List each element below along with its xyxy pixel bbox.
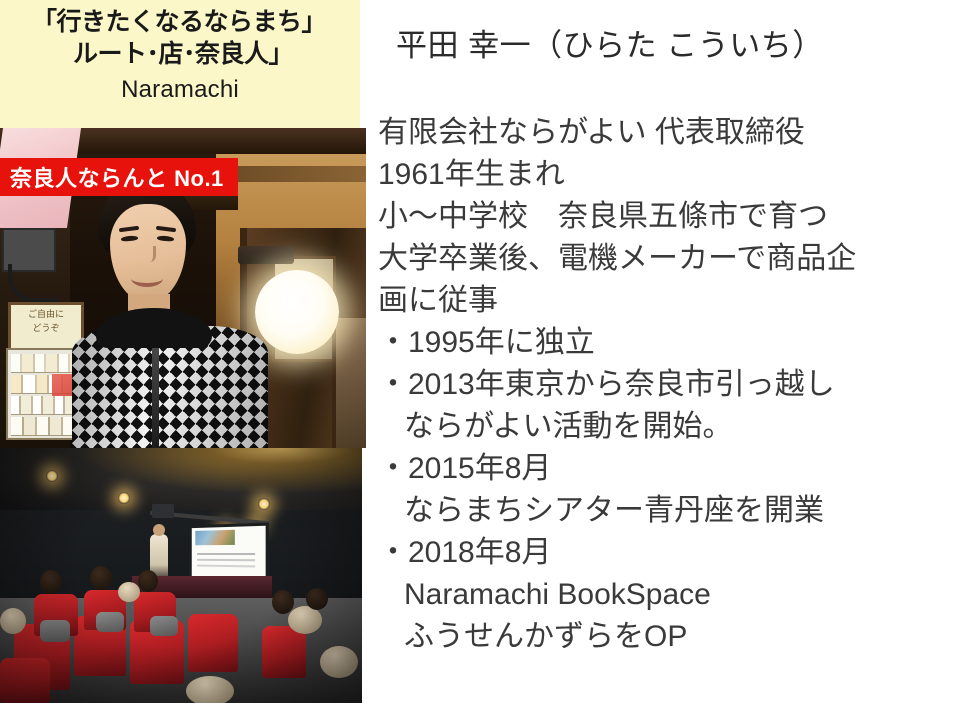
bio-line: ・1995年に独立 <box>378 322 960 364</box>
bio-line: ・2013年東京から奈良市引っ越し <box>378 364 960 406</box>
right-column: 平田 幸一（ひらた こういち） 有限会社ならがよい 代表取締役1961年生まれ小… <box>374 0 960 720</box>
bio-line: ・2018年8月 <box>378 532 960 574</box>
bio-line: ふうせんかずらをOP <box>378 616 960 658</box>
bio-line: ならがよい活動を開始。 <box>378 406 960 448</box>
storefront-air-unit <box>238 246 294 264</box>
photo-vignette <box>0 448 362 703</box>
bio-block: 有限会社ならがよい 代表取締役1961年生まれ小〜中学校 奈良県五條市で育つ大学… <box>378 112 960 658</box>
title-line-2: ルート･店･奈良人」 <box>73 38 293 70</box>
bio-line: 1961年生まれ <box>378 154 960 196</box>
brochure-row <box>11 354 81 373</box>
bio-line: 画に従事 <box>378 280 960 322</box>
title-card: 「行きたくなるならまち」 ルート･店･奈良人」 Naramachi <box>0 0 360 128</box>
paper-lantern <box>255 270 339 354</box>
bio-line: ならまちシアター青丹座を開業 <box>378 490 960 532</box>
bio-line: Naramachi BookSpace <box>378 574 960 616</box>
portrait-photo: ご自由にどうぞ 奈良人ならんと No.1 <box>0 128 366 448</box>
bio-line: 大学卒業後、電機メーカーで商品企 <box>378 238 960 280</box>
nara-badge-label: 奈良人ならんと No.1 <box>10 161 224 193</box>
person-nose <box>141 246 156 262</box>
bio-line: 小〜中学校 奈良県五條市で育つ <box>378 196 960 238</box>
brochure-row <box>11 396 81 415</box>
title-romaji: Naramachi <box>121 76 239 104</box>
bio-line: ・2015年8月 <box>378 448 960 490</box>
storefront-side-panel <box>332 318 366 448</box>
person-mouth <box>131 270 163 287</box>
free-to-take-sign: ご自由にどうぞ <box>8 302 84 352</box>
storefront-beam <box>220 166 366 182</box>
bio-line: 有限会社ならがよい 代表取締役 <box>378 112 960 154</box>
page-title: 平田 幸一（ひらた こういち） <box>396 20 824 65</box>
theater-photo <box>0 448 362 703</box>
brochure-row <box>11 417 81 436</box>
title-line-1: 「行きたくなるならまち」 <box>32 6 326 38</box>
left-column: 「行きたくなるならまち」 ルート･店･奈良人」 Naramachi ご自由にどう… <box>0 0 366 720</box>
free-to-take-sign-label: ご自由にどうぞ <box>11 308 81 335</box>
nara-badge: 奈良人ならんと No.1 <box>0 158 238 196</box>
